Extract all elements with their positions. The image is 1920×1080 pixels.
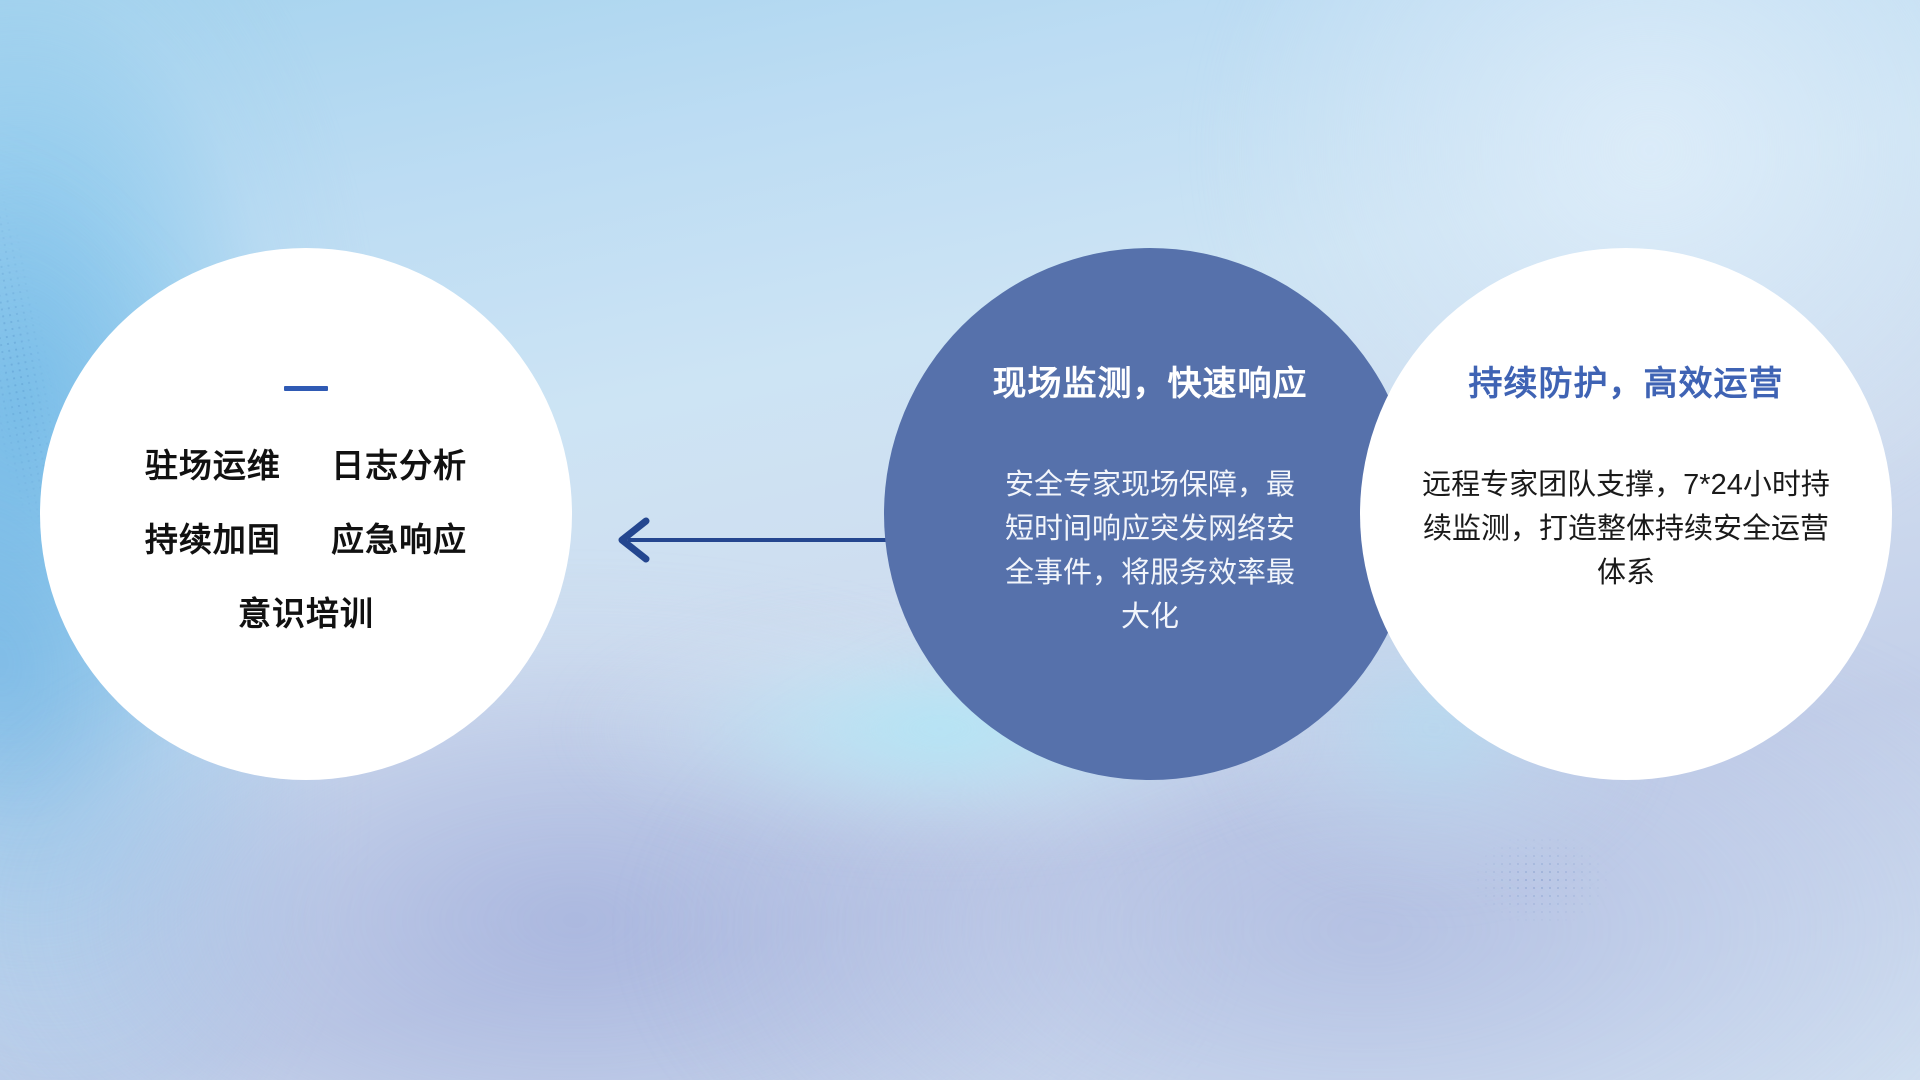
capability-circle-left[interactable]: 驻场运维 日志分析 持续加固 应急响应 意识培训 (40, 248, 572, 780)
capability-label: 日志分析 (331, 447, 467, 484)
list-item: 驻场运维 日志分析 (145, 439, 467, 487)
slide-canvas: 驻场运维 日志分析 持续加固 应急响应 意识培训 现场监测，快速响应 安全专家现… (0, 0, 1920, 1080)
right-circle-body: 远程专家团队支撑，7*24小时持续监测，打造整体持续安全运营体系 (1421, 463, 1831, 595)
right-circle-title: 持续防护，高效运营 (1469, 356, 1784, 405)
list-item: 持续加固 应急响应 (145, 513, 467, 561)
capability-label: 持续加固 (145, 521, 281, 558)
capability-label: 应急响应 (331, 521, 467, 558)
list-item: 意识培训 (238, 587, 374, 635)
middle-circle-title: 现场监测，快速响应 (993, 356, 1308, 405)
middle-circle-body: 安全专家现场保障，最短时间响应突发网络安全事件，将服务效率最大化 (995, 463, 1305, 639)
arrow-left-icon (600, 505, 910, 575)
background-dot-texture-right (1450, 820, 1750, 1020)
capability-label: 驻场运维 (145, 447, 281, 484)
capability-label: 意识培训 (238, 595, 374, 632)
title-divider (284, 386, 328, 391)
capability-circle-right[interactable]: 持续防护，高效运营 远程专家团队支撑，7*24小时持续监测，打造整体持续安全运营… (1360, 248, 1892, 780)
capability-list: 驻场运维 日志分析 持续加固 应急响应 意识培训 (145, 439, 467, 635)
capability-circle-middle[interactable]: 现场监测，快速响应 安全专家现场保障，最短时间响应突发网络安全事件，将服务效率最… (884, 248, 1416, 780)
